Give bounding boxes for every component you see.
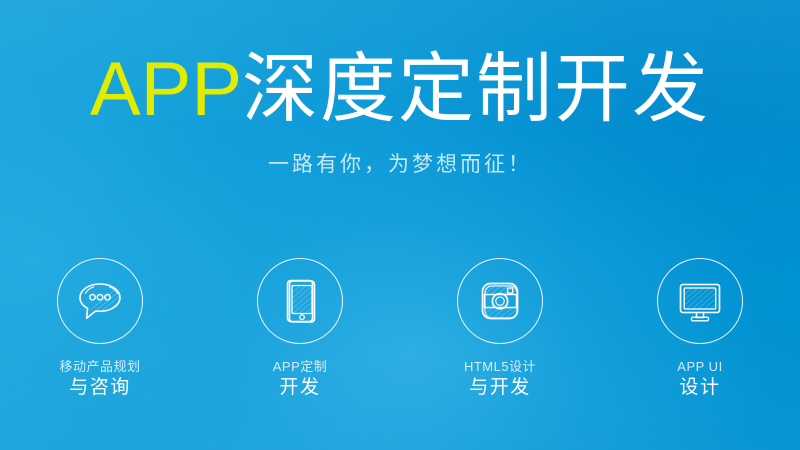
camera-icon	[472, 273, 528, 329]
service-icon-circle	[457, 258, 543, 344]
service-item-app-development[interactable]: APP定制 开发	[200, 258, 400, 399]
service-item-consulting[interactable]: 移动产品规划 与咨询	[0, 258, 200, 399]
service-label-top: 移动产品规划	[59, 360, 140, 374]
tablet-device-icon	[272, 273, 328, 329]
page-title-rest: 深度定制开发	[242, 47, 710, 132]
service-labels: 移动产品规划 与咨询	[59, 360, 140, 399]
service-icon-circle	[257, 258, 343, 344]
service-icon-circle	[57, 258, 143, 344]
page-title-keyword: APP	[90, 47, 242, 132]
service-label-bottom: 开发	[273, 378, 328, 399]
service-labels: APP定制 开发	[273, 360, 328, 399]
service-label-bottom: 与咨询	[59, 378, 140, 399]
service-label-top: APP UI	[677, 360, 722, 374]
speech-bubble-icon	[72, 273, 128, 329]
services-row: 移动产品规划 与咨询	[0, 258, 800, 399]
service-label-top: HTML5设计	[464, 360, 536, 374]
service-labels: HTML5设计 与开发	[464, 360, 536, 399]
service-label-top: APP定制	[273, 360, 328, 374]
page-title: APP深度定制开发	[0, 52, 800, 128]
service-labels: APP UI 设计	[677, 360, 722, 399]
banner-root: APP深度定制开发 一路有你，为梦想而征！	[0, 0, 800, 450]
service-label-bottom: 设计	[677, 378, 722, 399]
service-label-bottom: 与开发	[464, 378, 536, 399]
service-icon-circle	[657, 258, 743, 344]
page-subtitle: 一路有你，为梦想而征！	[0, 148, 800, 178]
service-item-html5[interactable]: HTML5设计 与开发	[400, 258, 600, 399]
service-item-ui-design[interactable]: APP UI 设计	[600, 258, 800, 399]
desktop-monitor-icon	[672, 273, 728, 329]
